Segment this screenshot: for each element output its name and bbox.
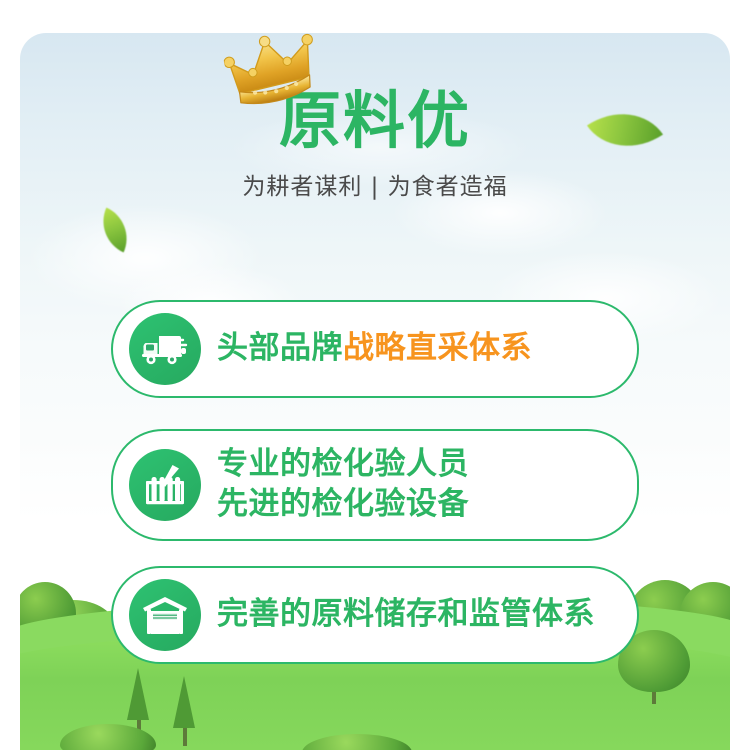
feature-line: 专业的检化验人员 [217,445,469,485]
feature-text: 专业的检化验人员 先进的检化验设备 [217,445,469,524]
test-tube-rack-icon [129,449,201,521]
warehouse-icon [129,579,201,651]
delivery-truck-icon [129,313,201,385]
hero-section: 原料优 为耕者谋利 | 为食者造福 [20,88,730,201]
page-subtitle: 为耕者谋利 | 为食者造福 [20,167,730,201]
feature-card-supply-chain[interactable]: 头部品牌战略直采体系 [111,300,639,398]
feature-line: 头部品牌战略直采体系 [217,329,532,369]
poster-root: 原料优 为耕者谋利 | 为食者造福 [0,0,750,750]
feature-segment: 头部品牌 [217,330,343,366]
feature-segment-accent: 战略直采体系 [343,330,532,366]
tree-icon [173,676,195,728]
feature-list: 头部品牌战略直采体系 [20,300,730,664]
feature-text: 头部品牌战略直采体系 [217,329,532,369]
feature-card-lab-testing[interactable]: 专业的检化验人员 先进的检化验设备 [111,429,639,541]
hero-title-row: 原料优 [279,88,471,153]
feature-line: 先进的检化验设备 [217,485,469,525]
feature-line: 完善的原料储存和监管体系 [217,595,595,635]
feature-text: 完善的原料储存和监管体系 [217,595,595,635]
poster-card: 原料优 为耕者谋利 | 为食者造福 [20,33,730,750]
tree-icon [127,668,149,720]
feature-card-storage[interactable]: 完善的原料储存和监管体系 [111,566,639,664]
leaf-icon [93,208,138,253]
